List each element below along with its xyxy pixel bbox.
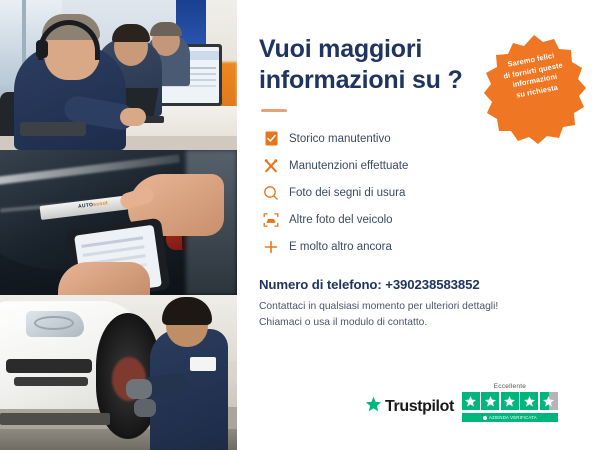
feature-label: Foto dei segni di usura <box>289 187 405 199</box>
feature-item-manutenzioni-effettuate: Manutenzioni effettuate <box>259 152 578 179</box>
verified-business-badge: AZIENDA VERIFICATA <box>462 413 558 422</box>
star-filled-2 <box>481 392 499 410</box>
feature-item-foto-segni-usura: Foto dei segni di usura <box>259 179 578 206</box>
trustpilot-rating-label: Eccellente <box>494 383 526 390</box>
star-filled-4 <box>520 392 538 410</box>
photo-column: AUTOscout <box>0 0 237 450</box>
feature-item-altre-foto-veicolo: Altre foto del veicolo <box>259 206 578 233</box>
phone-number[interactable]: Numero di telefono: +390238583852 <box>259 277 578 292</box>
verified-check-icon <box>483 416 487 420</box>
promo-banner: AUTOscout Vuoi maggiori informazioni su … <box>0 0 600 450</box>
verified-label: AZIENDA VERIFICATA <box>489 415 537 420</box>
feature-label: Storico manutentivo <box>289 133 391 145</box>
star-filled-1 <box>462 392 480 410</box>
plus-icon <box>259 239 283 255</box>
call-center-agents-photo <box>0 0 237 150</box>
tools-cross-icon <box>259 158 283 174</box>
trustpilot-stars <box>462 392 558 410</box>
trustpilot-star-icon <box>365 396 382 418</box>
star-half-5 <box>540 392 558 410</box>
feature-label: Altre foto del veicolo <box>289 214 393 226</box>
magnifier-icon <box>259 185 283 201</box>
mechanic-wheel-inspection-photo <box>0 295 237 450</box>
star-filled-3 <box>501 392 519 410</box>
title-divider <box>261 109 287 112</box>
content-panel: Vuoi maggiori informazioni su ? Storico … <box>237 0 600 450</box>
trustpilot-wordmark: Trustpilot <box>385 398 454 416</box>
checkbox-checked-icon <box>259 131 283 146</box>
trustpilot-rating: Eccellente <box>462 383 558 422</box>
feature-label: Manutenzioni effettuate <box>289 160 408 172</box>
phone-subtext-line2: Chiamaci o usa il modulo di contatto. <box>259 315 578 331</box>
paint-gauge-inspection-photo: AUTOscout <box>0 150 237 295</box>
page-title: Vuoi maggiori informazioni su ? <box>259 34 474 95</box>
feature-label: E molto altro ancora <box>289 241 392 253</box>
callout-badge: Saremo felici di fornirti queste informa… <box>476 33 592 149</box>
badge-text: Saremo felici di fornirti queste informa… <box>500 50 567 103</box>
phone-subtext-line1: Contattaci in qualsiasi momento per ulte… <box>259 299 578 315</box>
trustpilot-widget[interactable]: Trustpilot Eccellente <box>365 383 558 422</box>
feature-item-molto-altro: E molto altro ancora <box>259 233 578 260</box>
trustpilot-logo: Trustpilot <box>365 396 454 422</box>
phone-block: Numero di telefono: +390238583852 Contat… <box>259 277 578 330</box>
car-photo-frame-icon <box>259 212 283 228</box>
